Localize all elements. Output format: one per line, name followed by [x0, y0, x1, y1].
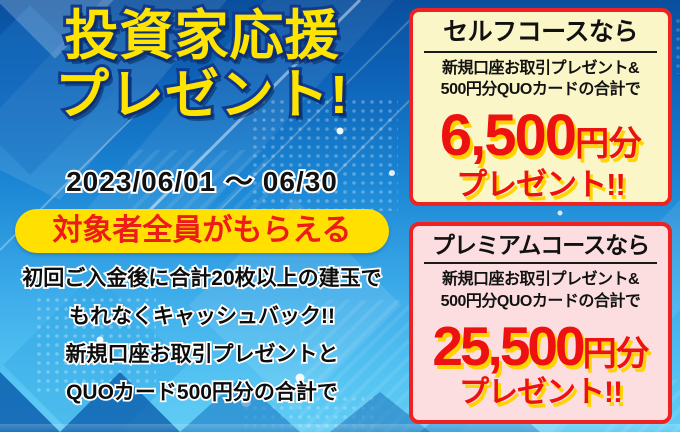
self-course-present-label: プレゼント!!	[422, 169, 659, 200]
premium-course-amount-unit: 円分	[583, 335, 649, 373]
premium-course-amount-number: 25,500	[432, 315, 582, 377]
eligibility-badge: 対象者全員がもらえる	[15, 209, 389, 253]
description-line-4: QUOカード500円分の合計で	[0, 382, 404, 403]
premium-course-panel: プレミアムコースなら 新規口座お取引プレゼント& 500円分QUOカードの合計で…	[409, 222, 672, 424]
self-course-panel: セルフコースなら 新規口座お取引プレゼント& 500円分QUOカードの合計で 6…	[409, 8, 672, 206]
premium-course-divider	[424, 262, 657, 264]
premium-course-heading: プレミアムコースなら	[422, 232, 659, 258]
headline-block: 投資家応援 プレゼント!	[0, 8, 404, 124]
self-course-sub-line-1: 新規口座お取引プレゼント&	[422, 58, 659, 80]
self-course-heading: セルフコースなら	[422, 18, 659, 47]
premium-course-amount-row: 25,500円分	[422, 319, 659, 374]
premium-course-sub-line-1: 新規口座お取引プレゼント&	[422, 269, 659, 291]
self-course-sub-line-2: 500円分QUOカードの合計で	[422, 79, 659, 101]
self-course-divider	[424, 51, 657, 53]
description-line-2: もれなくキャッシュバック!!	[0, 306, 404, 327]
premium-course-present-label: プレゼント!!	[422, 378, 659, 408]
headline-line-2: プレゼント!	[0, 67, 404, 124]
description-block: 初回ご入金後に合計20枚以上の建玉で もれなくキャッシュバック!! 新規口座お取…	[0, 268, 404, 403]
headline-line-1: 投資家応援	[0, 8, 404, 65]
self-course-amount-row: 6,500円分	[422, 107, 659, 165]
self-course-amount-unit: 円分	[575, 125, 641, 163]
campaign-date-range: 2023/06/01 ～ 06/30	[0, 160, 404, 200]
eligibility-badge-label: 対象者全員がもらえる	[52, 216, 351, 246]
left-content: 投資家応援 プレゼント! 2023/06/01 ～ 06/30 対象者全員がもら…	[0, 0, 404, 432]
description-line-1: 初回ご入金後に合計20枚以上の建玉で	[0, 268, 404, 289]
description-line-3: 新規口座お取引プレゼントと	[0, 344, 404, 365]
promo-banner: 投資家応援 プレゼント! 2023/06/01 ～ 06/30 対象者全員がもら…	[0, 0, 680, 432]
premium-course-sub-line-2: 500円分QUOカードの合計で	[422, 291, 659, 313]
self-course-amount-number: 6,500	[440, 103, 575, 168]
